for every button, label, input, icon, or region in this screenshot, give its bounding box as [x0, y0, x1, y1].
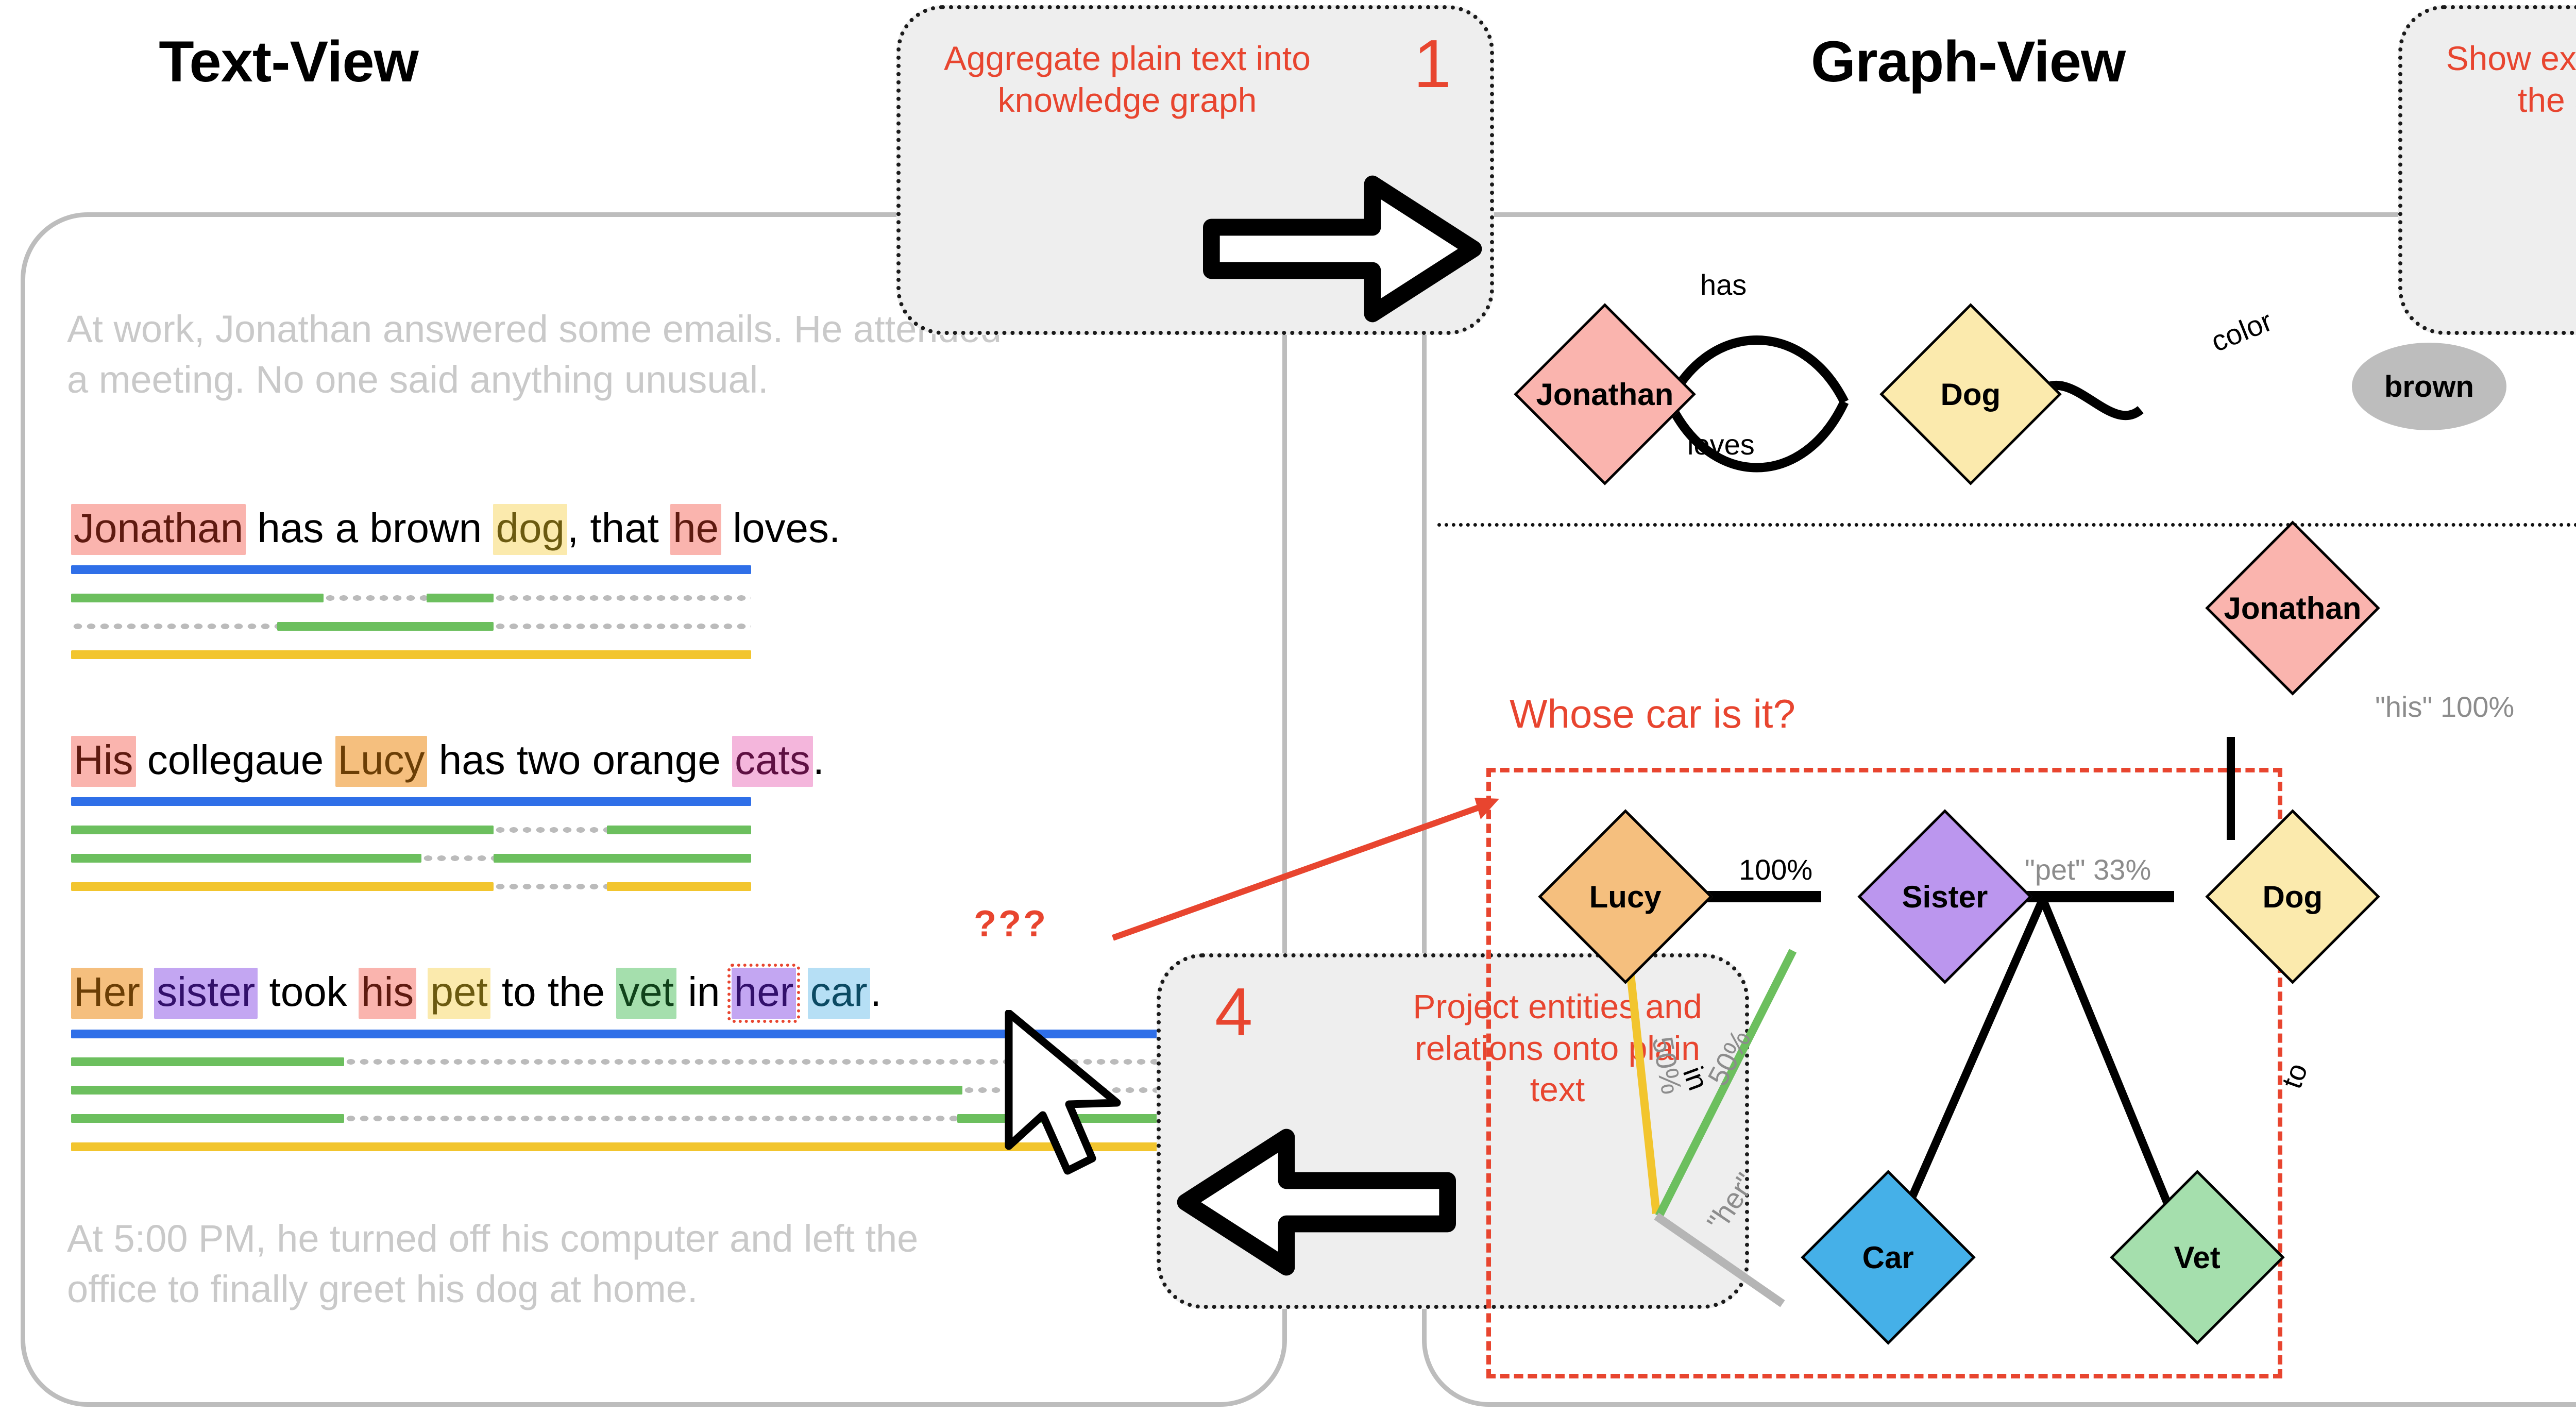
entity-highlight-pink[interactable]: cats [732, 736, 813, 787]
graph-edge-label-his: "his" 100% [2375, 691, 2514, 723]
callout-1-number: 1 [1414, 30, 1451, 98]
graph-node-label: Dog [1941, 376, 2001, 412]
graph-edge-label-loves: loves [1687, 428, 1755, 461]
underline-dots [344, 1114, 957, 1123]
underline-bar-green [71, 826, 494, 834]
underline-bar-yellow [71, 650, 751, 659]
underline-dots [494, 594, 751, 602]
left-arrow-icon [1171, 1117, 1460, 1287]
underline-bar-blue [71, 797, 751, 806]
page-title-graph-view: Graph-View [1685, 28, 2251, 95]
underline-bar-green [494, 854, 751, 863]
entity-highlight-blue[interactable]: car [808, 968, 870, 1019]
plain-text [416, 969, 428, 1015]
entity-highlight-red[interactable]: he [670, 504, 721, 555]
underline-bar-yellow [71, 1142, 1158, 1151]
entity-highlight-red[interactable]: His [71, 736, 136, 787]
underline-dots [494, 622, 751, 631]
entity-highlight-yellow[interactable]: pet [428, 968, 490, 1019]
underline-bar-green [277, 622, 494, 631]
underline-bar-yellow [607, 882, 751, 891]
plain-text: . [813, 737, 824, 783]
underline-dots [71, 622, 277, 631]
entity-highlight-yellow[interactable]: dog [493, 504, 567, 555]
underline-bar-green [427, 594, 494, 602]
underline-dots [494, 882, 607, 891]
entity-highlight-red[interactable]: his [359, 968, 416, 1019]
graph-node-label: brown [2384, 369, 2474, 404]
underline-bar-blue [71, 1030, 1158, 1038]
plain-text: loves. [721, 505, 840, 551]
underline-dots [324, 594, 427, 602]
underline-bar-green [607, 826, 751, 834]
plain-text: has two orange [427, 737, 732, 783]
textview-to-graph-arrow [1056, 783, 1674, 1041]
callout-box-1: Aggregate plain text into knowledge grap… [896, 5, 1494, 335]
callout-2-text: Show extracted facts by the annotators [2431, 38, 2576, 121]
graph-view-divider [1437, 523, 2576, 527]
callout-1-text: Aggregate plain text into knowledge grap… [931, 38, 1323, 121]
plain-text: , that [567, 505, 670, 551]
underline-bar-yellow [71, 882, 494, 891]
text-view-intro-paragraph: At work, Jonathan answered some emails. … [67, 304, 1010, 406]
entity-highlight-green[interactable]: vet [616, 968, 676, 1019]
underline-dots [494, 826, 607, 834]
text-view-sentence-2[interactable]: His collegaue Lucy has two orange cats. [71, 739, 824, 781]
plain-text: . [870, 969, 882, 1015]
entity-highlight-red[interactable]: Jonathan [71, 504, 246, 555]
underline-bar-green [71, 594, 324, 602]
question-marks-label: ??? [974, 903, 1048, 945]
page-title-text-view: Text-View [31, 28, 546, 95]
plain-text [143, 969, 154, 1015]
plain-text: has a brown [246, 505, 493, 551]
underline-dots [421, 854, 494, 863]
graph-node-label: Dog [2263, 879, 2323, 914]
plain-text: in [676, 969, 732, 1015]
underline-bar-green [71, 1057, 344, 1066]
underline-bar-green [71, 1086, 962, 1095]
graph-node-label: Jonathan [2224, 591, 2362, 626]
graph-edge-label-lucy-sister: 100% [1739, 853, 1812, 886]
plain-text: collegaue [136, 737, 335, 783]
graph-node-label: Car [1862, 1240, 1914, 1275]
graph-node-label: Sister [1902, 879, 1988, 914]
text-view-sentence-3[interactable]: Her sister took his pet to the vet in he… [71, 971, 882, 1013]
graph-node-label: Vet [2174, 1240, 2221, 1275]
text-view-sentence-1[interactable]: Jonathan has a brown dog, that he loves. [71, 508, 840, 549]
entity-highlight-orange[interactable]: Lucy [335, 736, 428, 787]
plain-text: took [258, 969, 359, 1015]
graph-node-label: Jonathan [1536, 377, 1674, 412]
graph-edge-label-has: has [1700, 268, 1747, 301]
underline-bar-green [71, 1114, 344, 1123]
graph-edge-label-pet: "pet" 33% [2025, 853, 2151, 886]
underline-bar-blue [71, 565, 751, 574]
selected-token-her[interactable]: her [732, 968, 796, 1019]
graph-node-brown-attribute[interactable]: brown [2352, 343, 2506, 430]
entity-highlight-purple[interactable]: sister [154, 968, 258, 1019]
underline-bar-green [71, 854, 421, 863]
plain-text: to the [490, 969, 617, 1015]
text-view-outro-paragraph: At 5:00 PM, he turned off his computer a… [67, 1214, 1015, 1315]
entity-highlight-orange[interactable]: Her [71, 968, 143, 1019]
plain-text [796, 969, 807, 1015]
